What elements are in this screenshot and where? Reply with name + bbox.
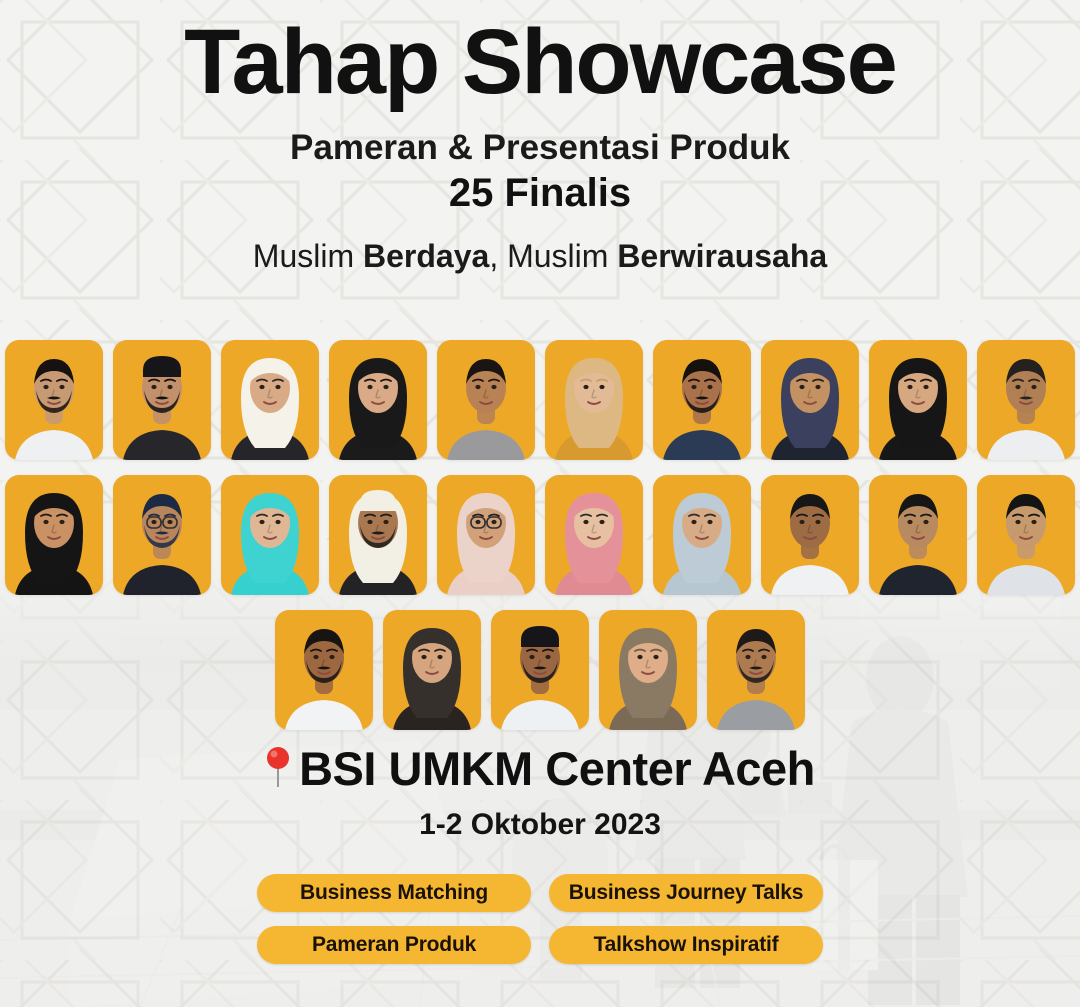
finalist-photo-tile [653, 475, 751, 595]
finalist-portrait-finalist-19 [869, 475, 967, 595]
finalist-photo-tile [329, 340, 427, 460]
finalist-portrait-finalist-16 [545, 475, 643, 595]
finalist-photo-tile [977, 340, 1075, 460]
tagline-prefix: Muslim [253, 238, 363, 274]
finalist-portrait-finalist-07 [653, 340, 751, 460]
finalist-portrait-finalist-08 [761, 340, 859, 460]
finalist-photo-tile [599, 610, 697, 730]
venue-line: BSI UMKM Center Aceh [0, 745, 1080, 792]
finalist-photo-tile [5, 475, 103, 595]
finalist-portrait-finalist-06 [545, 340, 643, 460]
finalist-portrait-finalist-23 [491, 610, 589, 730]
finalist-photo-tile [761, 340, 859, 460]
finalist-photo-tile [491, 610, 589, 730]
finalist-portrait-finalist-11 [5, 475, 103, 595]
tagline: Muslim Berdaya, Muslim Berwirausaha [0, 238, 1080, 275]
finalist-photo-tile [275, 610, 373, 730]
location-pin-icon [265, 746, 291, 788]
finalist-portrait-finalist-02 [113, 340, 211, 460]
finalist-portrait-finalist-22 [383, 610, 481, 730]
finalist-photo-tile [383, 610, 481, 730]
event-date: 1-2 Oktober 2023 [0, 808, 1080, 842]
finalist-portrait-finalist-25 [707, 610, 805, 730]
finalist-photo-tile [113, 340, 211, 460]
finalist-photo-tile [653, 340, 751, 460]
finalist-photo-tile [329, 475, 427, 595]
finalist-portrait-finalist-20 [977, 475, 1075, 595]
finalist-portrait-finalist-10 [977, 340, 1075, 460]
tagline-bold-one: Berdaya [363, 238, 489, 274]
finalist-photo-tile [545, 340, 643, 460]
venue-name: BSI UMKM Center Aceh [299, 745, 815, 792]
headline-block: Tahap Showcase Pameran & Presentasi Prod… [0, 14, 1080, 275]
finalist-photo-tile [869, 340, 967, 460]
finalist-photo-tile [977, 475, 1075, 595]
finalist-photo-tile [437, 340, 535, 460]
finalist-row-2 [0, 475, 1080, 595]
finalist-portrait-finalist-15 [437, 475, 535, 595]
activity-pill-group: Business MatchingBusiness Journey TalksP… [257, 874, 823, 964]
tagline-bold-two: Berwirausaha [617, 238, 827, 274]
finalist-count: 25 Finalis [0, 170, 1080, 216]
finalist-photo-tile [437, 475, 535, 595]
activity-pill-3[interactable]: Pameran Produk [257, 926, 531, 964]
activity-pill-1[interactable]: Business Matching [257, 874, 531, 912]
finalist-portrait-finalist-09 [869, 340, 967, 460]
page-title: Tahap Showcase [0, 14, 1080, 112]
finalist-row-1 [0, 340, 1080, 460]
finalist-portrait-finalist-21 [275, 610, 373, 730]
finalist-portrait-finalist-05 [437, 340, 535, 460]
finalist-photo-tile [113, 475, 211, 595]
finalist-photo-tile [707, 610, 805, 730]
finalist-portrait-finalist-04 [329, 340, 427, 460]
finalist-photo-tile [545, 475, 643, 595]
tagline-middle: , Muslim [489, 238, 617, 274]
activity-pill-4[interactable]: Talkshow Inspiratif [549, 926, 823, 964]
finalist-portrait-finalist-01 [5, 340, 103, 460]
finalist-portrait-finalist-14 [329, 475, 427, 595]
subtitle-primary: Pameran & Presentasi Produk [0, 128, 1080, 168]
finalist-portrait-finalist-18 [761, 475, 859, 595]
finalist-photo-tile [761, 475, 859, 595]
finalist-photo-tile [221, 475, 319, 595]
finalist-row-3 [0, 610, 1080, 730]
finalist-photo-tile [869, 475, 967, 595]
activity-pill-2[interactable]: Business Journey Talks [549, 874, 823, 912]
finalist-portrait-finalist-17 [653, 475, 751, 595]
showcase-poster: Tahap Showcase Pameran & Presentasi Prod… [0, 0, 1080, 1007]
finalist-portrait-finalist-03 [221, 340, 319, 460]
finalist-portrait-finalist-24 [599, 610, 697, 730]
finalist-portrait-finalist-13 [221, 475, 319, 595]
finalist-photo-tile [221, 340, 319, 460]
finalist-portrait-finalist-12 [113, 475, 211, 595]
finalist-photo-tile [5, 340, 103, 460]
